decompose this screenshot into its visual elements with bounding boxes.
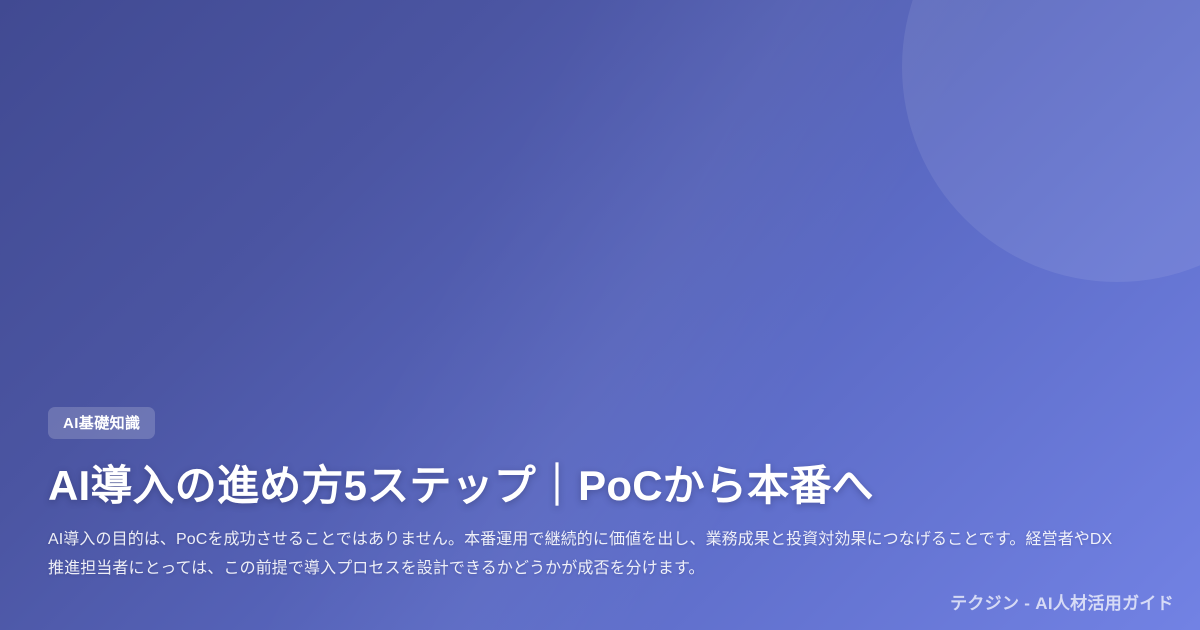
page-title: AI導入の進め方5ステップ｜PoCから本番へ	[48, 461, 1126, 511]
card-content: AI基礎知識 AI導入の進め方5ステップ｜PoCから本番へ AI導入の目的は、P…	[48, 407, 1126, 584]
og-image-card: AI基礎知識 AI導入の進め方5ステップ｜PoCから本番へ AI導入の目的は、P…	[0, 0, 1200, 630]
site-credit: テクジン - AI人材活用ガイド	[950, 592, 1174, 616]
decorative-circle-shape	[902, 0, 1200, 282]
page-description: AI導入の目的は、PoCを成功させることではありません。本番運用で継続的に価値を…	[48, 526, 1120, 584]
category-badge: AI基礎知識	[48, 407, 155, 439]
